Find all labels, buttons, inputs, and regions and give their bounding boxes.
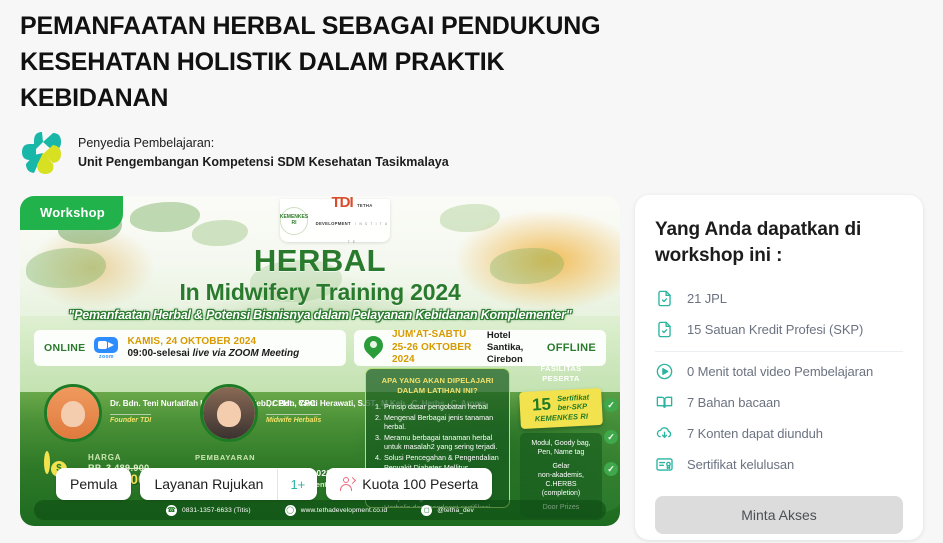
benefit-label: Sertifikat kelulusan	[687, 457, 794, 472]
tdi-sub: I N S T I T U T E	[348, 222, 389, 244]
benefits-title: Yang Anda dapatkan di workshop ini :	[655, 217, 903, 269]
provider-logo-icon	[20, 130, 66, 176]
benefit-item-reading: 7 Bahan bacaan	[655, 387, 903, 418]
benefit-label: 7 Konten dapat diunduh	[687, 426, 823, 441]
provider-text: Penyedia Pembelajaran: Unit Pengembangan…	[78, 134, 449, 172]
certificate-label: Sertifikat ber-SKP	[557, 394, 590, 413]
course-benefits-card: Yang Anda dapatkan di workshop ini : 21 …	[635, 195, 923, 540]
chip-level[interactable]: Pemula	[56, 468, 131, 500]
facility-line1: Modul, Goody bag,	[524, 439, 598, 448]
banner-tagline: "Pemanfaatan Herbal & Potensi Bisnisnya …	[20, 308, 620, 322]
contact-strip: ☎ 0831-1357-6633 (Titis) ◯ www.tethadeve…	[34, 500, 606, 520]
online-label: ONLINE	[44, 342, 85, 354]
facility-heading-line2: PESERTA	[520, 374, 602, 384]
payment-text: PEMBAYARAN	[195, 452, 255, 463]
zoom-icon: zoom	[93, 336, 119, 360]
contact-phone: ☎ 0831-1357-6633 (Titis)	[166, 505, 251, 516]
phone-icon: ☎	[166, 505, 177, 516]
benefit-item-download: 7 Konten dapat diunduh	[655, 418, 903, 449]
book-open-icon	[655, 393, 674, 412]
offline-date: 25-26 OKTOBER 2024	[392, 342, 479, 367]
contact-instagram-text: @tetha_dev	[437, 507, 474, 514]
online-time-note: live via ZOOM Meeting	[193, 348, 300, 359]
schedule-offline: JUM'AT-SABTU 25-26 OKTOBER 2024 Hotel Sa…	[354, 330, 606, 366]
check-icon: ✓	[604, 398, 618, 412]
online-details: KAMIS, 24 OKTOBER 2024 09:00-selesai liv…	[127, 336, 299, 361]
schedule-bar: ONLINE zoom KAMIS, 24 OKTOBER 2024 09:00…	[34, 330, 606, 366]
kemenkes-seal-icon: KEMENKES RI	[280, 207, 308, 235]
offline-label: OFFLINE	[547, 342, 596, 354]
check-icon: ✓	[604, 430, 618, 444]
person-icon	[340, 477, 355, 492]
organizer-logo: KEMENKES RI TDI TETHA DEVELOPMENT I N S …	[280, 199, 390, 242]
chip-quota[interactable]: Kuota 100 Peserta	[326, 468, 492, 500]
workshop-badge: Workshop	[20, 196, 123, 230]
chip-service-group: Layanan Rujukan 1+	[140, 468, 317, 500]
globe-icon: ◯	[285, 505, 296, 516]
banner-title: HERBAL In Midwifery Training 2024	[20, 244, 620, 306]
provider-label: Penyedia Pembelajaran:	[78, 134, 449, 153]
list-item: Meramu berbagai tanaman herbal untuk mas…	[375, 433, 502, 452]
page-title: PEMANFAATAN HERBAL SEBAGAI PENDUKUNG KES…	[20, 0, 620, 116]
avatar	[44, 384, 102, 442]
document-check-icon	[655, 320, 674, 339]
contact-website-text: www.tethadevelopment.co.id	[301, 507, 388, 514]
contact-website: ◯ www.tethadevelopment.co.id	[285, 505, 388, 516]
tag-chips: Pemula Layanan Rujukan 1+ Kuota 100 Pese…	[56, 468, 492, 500]
divider	[655, 351, 903, 352]
certificate-ribbon: 15 Sertifikat ber-SKP KEMENKES RI	[519, 388, 603, 429]
document-check-icon	[655, 289, 674, 308]
chip-quota-label: Kuota 100 Peserta	[362, 476, 478, 492]
list-item: Mengenal Berbagai jenis tanaman herbal.	[375, 413, 502, 432]
instagram-icon: ◻	[421, 505, 432, 516]
banner-title-line2: In Midwifery Training 2024	[20, 278, 620, 306]
online-time-value: 09:00-selesai	[127, 348, 189, 359]
online-time: 09:00-selesai live via ZOOM Meeting	[127, 348, 299, 361]
offline-dates: JUM'AT-SABTU 25-26 OKTOBER 2024	[392, 329, 479, 367]
facility-line2: Pen, Name tag	[524, 448, 598, 457]
benefit-item-skp: 15 Satuan Kredit Profesi (SKP)	[655, 314, 903, 345]
course-detail-page: PEMANFAATAN HERBAL SEBAGAI PENDUKUNG KES…	[0, 0, 943, 543]
payment-label: PEMBAYARAN	[195, 452, 255, 463]
facility-line6: (completion)	[524, 489, 598, 498]
offline-day: JUM'AT-SABTU	[392, 329, 479, 342]
course-banner[interactable]: Workshop KEMENKES RI TDI TETHA DEVELOPME…	[20, 196, 620, 526]
facility-line3: Gelar	[524, 462, 598, 471]
facility-box: FASILITAS PESERTA 15 Sertifikat ber-SKP …	[520, 364, 602, 518]
curriculum-heading-line2: DALAM LATIHAN INI?	[373, 386, 502, 396]
chip-service-more[interactable]: 1+	[277, 469, 317, 500]
contact-phone-text: 0831-1357-6633 (Titis)	[182, 507, 251, 514]
benefit-item-video: 0 Menit total video Pembelajaran	[655, 356, 903, 387]
contact-instagram: ◻ @tetha_dev	[421, 505, 474, 516]
curriculum-heading-line1: APA YANG AKAN DIPELAJARI	[373, 376, 502, 386]
tdi-acronym: TDI	[331, 196, 352, 211]
location-pin-icon	[364, 335, 384, 361]
benefit-label: 7 Bahan bacaan	[687, 395, 780, 410]
list-item: Prinsip dasar pengobatan herbal	[375, 402, 502, 412]
certificate-icon	[655, 455, 674, 474]
provider-name: Unit Pengembangan Kompetensi SDM Kesehat…	[78, 153, 449, 172]
cloud-download-icon	[655, 424, 674, 443]
provider-row: Penyedia Pembelajaran: Unit Pengembangan…	[20, 130, 449, 176]
facility-heading-line1: FASILITAS	[520, 364, 602, 374]
facility-line4: non-akademis,	[524, 471, 598, 480]
avatar	[200, 384, 258, 442]
benefit-item-jpl: 21 JPL	[655, 283, 903, 314]
play-circle-icon	[655, 362, 674, 381]
banner-title-line1: HERBAL	[20, 244, 620, 278]
payment-block: PEMBAYARAN	[195, 452, 255, 463]
facility-line5: C.HERBS	[524, 480, 598, 489]
schedule-online: ONLINE zoom KAMIS, 24 OKTOBER 2024 09:00…	[34, 330, 346, 366]
speaker-role: Midwife Herbalis	[266, 414, 321, 424]
venue-line1: Hotel Santika,	[487, 330, 539, 354]
benefit-label: 15 Satuan Kredit Profesi (SKP)	[687, 322, 863, 337]
tdi-wordmark: TDI TETHA DEVELOPMENT I N S T I T U T E	[314, 196, 390, 248]
request-access-button[interactable]: Minta Akses	[655, 496, 903, 534]
check-icon: ✓	[604, 462, 618, 476]
chip-service[interactable]: Layanan Rujukan	[140, 468, 277, 500]
online-date: KAMIS, 24 OKTOBER 2024	[127, 336, 299, 349]
check-marks: ✓ ✓ ✓	[604, 398, 618, 494]
benefit-label: 0 Menit total video Pembelajaran	[687, 364, 873, 379]
offline-venue: Hotel Santika, Cirebon	[487, 330, 539, 366]
price-label: HARGA	[88, 452, 174, 463]
title-block: PEMANFAATAN HERBAL SEBAGAI PENDUKUNG KES…	[20, 0, 620, 116]
speaker-role: Founder TDI	[110, 414, 151, 424]
benefit-item-certificate: Sertifikat kelulusan	[655, 449, 903, 480]
certificate-count: 15	[532, 397, 552, 413]
benefit-label: 21 JPL	[687, 291, 727, 306]
